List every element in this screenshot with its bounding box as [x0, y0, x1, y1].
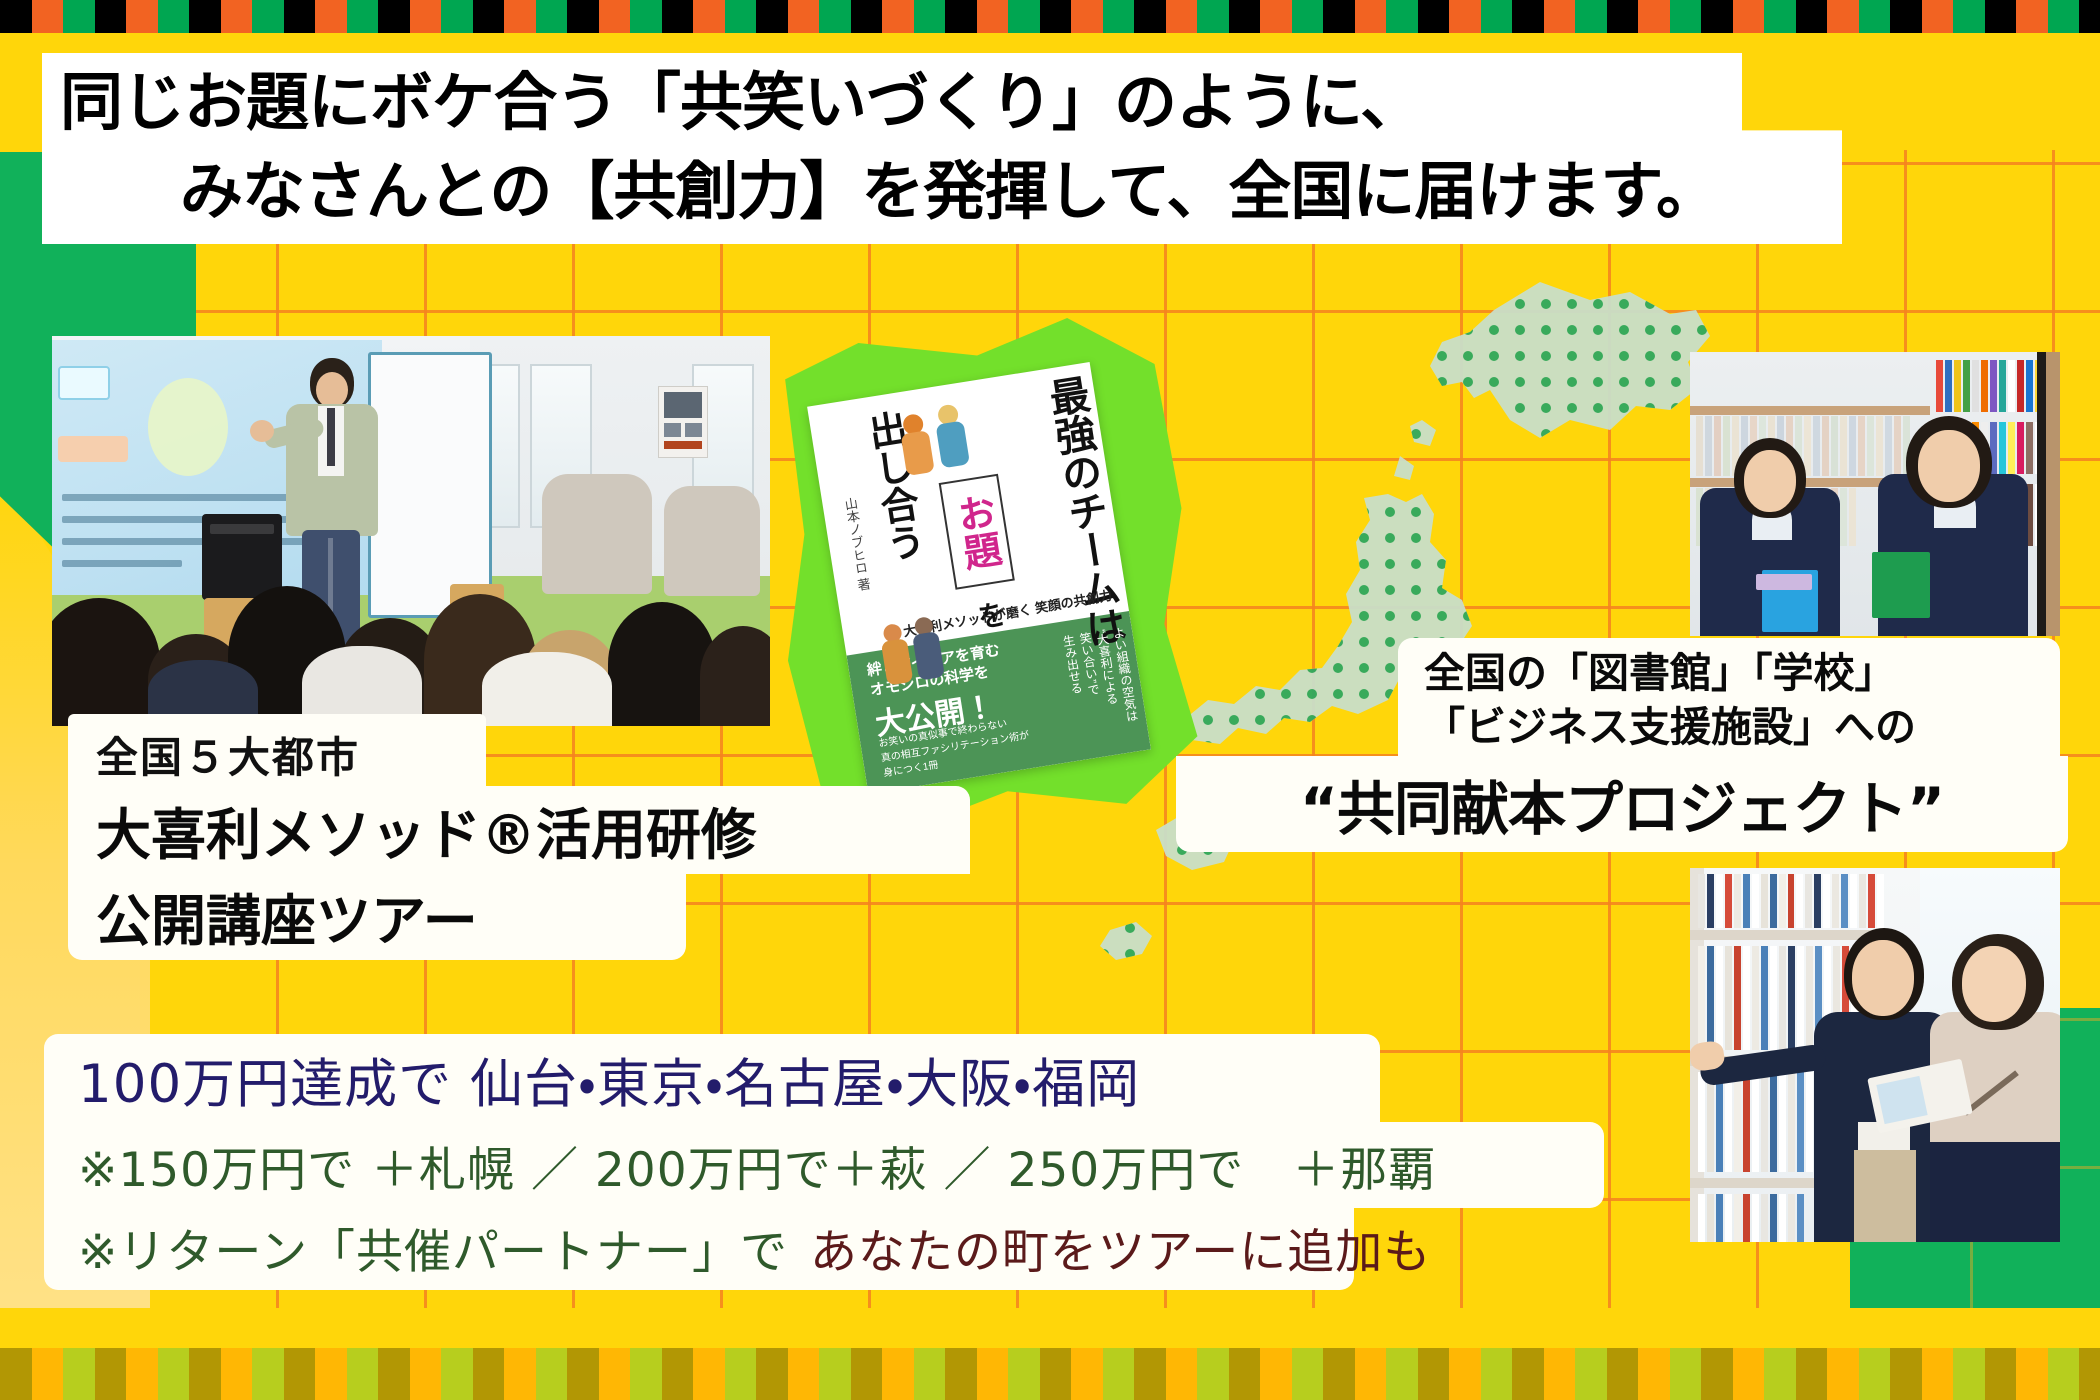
stripe-cell: [1733, 1348, 1765, 1400]
pricing-row-3-green-text: ※リターン「共催パートナー」で: [78, 1213, 788, 1282]
stripe-cell: [1166, 0, 1198, 33]
stripe-cell: [1071, 0, 1103, 33]
stripe-cell: [1764, 1348, 1796, 1400]
stripe-cell: [441, 1348, 473, 1400]
stripe-cell: [284, 1348, 316, 1400]
stripe-cell: [1638, 1348, 1670, 1400]
stripe-cell: [662, 1348, 694, 1400]
stripe-cell: [1040, 0, 1072, 33]
stripe-cell: [1733, 0, 1765, 33]
stripe-cell: [284, 0, 316, 33]
stripe-cell: [1355, 1348, 1387, 1400]
stripe-cell: [1607, 0, 1639, 33]
stripe-cell: [63, 0, 95, 33]
stripe-cell: [1953, 0, 1985, 33]
stripe-cell: [1355, 0, 1387, 33]
pricing-row-2-text: ※150万円で ＋札幌 ／ 200万円で＋萩 ／ 250万円で ＋那覇: [78, 1131, 1436, 1200]
pricing-row-1: 100万円達成で 仙台・東京・名古屋・大阪・福岡: [44, 1034, 1380, 1126]
label-training-title-text: 大喜利メソッド®活用研修: [96, 790, 756, 870]
title-line-1: 同じお題にボケ合う「共笑いづくり」のように、: [60, 58, 1850, 147]
stripe-cell: [1701, 1348, 1733, 1400]
stripe-cell: [1071, 1348, 1103, 1400]
stripe-cell: [1166, 1348, 1198, 1400]
stripe-cell: [1670, 1348, 1702, 1400]
stripe-cell: [1292, 1348, 1324, 1400]
stripe-cell: [1985, 0, 2017, 33]
book-cover: 最強のチームは 出し合う お題 を 山本ノブヒロ 著 大喜利メソッドが磨く 笑顔…: [807, 362, 1151, 794]
stripe-cell: [252, 1348, 284, 1400]
stripe-cell: [1323, 0, 1355, 33]
seminar-audience-photo: [52, 336, 770, 726]
stripe-cell: [1134, 1348, 1166, 1400]
stripe-cell: [2016, 0, 2048, 33]
label-nationwide-facilities: 全国の「図書館」「学校」 「ビジネス支援施設」への: [1398, 638, 2060, 760]
stripe-cell: [851, 0, 883, 33]
stripe-cell: [1512, 0, 1544, 33]
stripe-cell: [1544, 0, 1576, 33]
top-stripe-gap: [0, 33, 2100, 53]
stripe-cell: [221, 1348, 253, 1400]
stripe-cell: [945, 1348, 977, 1400]
label-five-cities: 全国５大都市: [68, 714, 486, 794]
stripe-cell: [1859, 0, 1891, 33]
book-figure-icon: [936, 421, 971, 469]
stripe-cell: [1103, 0, 1135, 33]
stripe-cell: [1040, 1348, 1072, 1400]
stripe-cell: [126, 0, 158, 33]
stripe-cell: [1638, 0, 1670, 33]
stripe-cell: [1953, 1348, 1985, 1400]
stripe-cell: [1386, 0, 1418, 33]
stripe-cell: [1260, 1348, 1292, 1400]
pricing-row-2: ※150万円で ＋札幌 ／ 200万円で＋萩 ／ 250万円で ＋那覇: [44, 1122, 1604, 1208]
stripe-cell: [914, 0, 946, 33]
bottom-stripe-gap: [0, 1308, 2100, 1348]
stripe-cell: [1008, 0, 1040, 33]
stripe-cell: [536, 1348, 568, 1400]
stripe-cell: [914, 1348, 946, 1400]
stripe-cell: [1922, 1348, 1954, 1400]
stripe-cell: [410, 0, 442, 33]
stripe-cell: [1859, 1348, 1891, 1400]
stripe-cell: [599, 1348, 631, 1400]
stripe-cell: [756, 1348, 788, 1400]
couple-browsing-bookshelf-photo: [1690, 868, 2060, 1242]
stripe-cell: [1512, 1348, 1544, 1400]
stripe-cell: [32, 1348, 64, 1400]
stripe-cell: [1134, 0, 1166, 33]
stripe-cell: [977, 1348, 1009, 1400]
stripe-cell: [1449, 0, 1481, 33]
pricing-row-3: ※リターン「共催パートナー」で あなたの町をツアーに追加も: [44, 1204, 1354, 1290]
stripe-cell: [1575, 1348, 1607, 1400]
stripe-cell: [1197, 1348, 1229, 1400]
stripe-cell: [945, 0, 977, 33]
stripe-cell: [1008, 1348, 1040, 1400]
label-tour-title: 公開講座ツアー: [68, 872, 686, 960]
stripe-cell: [536, 0, 568, 33]
label-nationwide-line-1: 全国の「図書館」「学校」: [1424, 646, 2060, 700]
stripe-cell: [126, 1348, 158, 1400]
stripe-cell: [693, 1348, 725, 1400]
stripe-cell: [788, 1348, 820, 1400]
stripe-cell: [1890, 0, 1922, 33]
stripe-cell: [347, 1348, 379, 1400]
stripe-cell: [2016, 1348, 2048, 1400]
stripe-cell: [630, 0, 662, 33]
stripe-cell: [378, 1348, 410, 1400]
stripe-cell: [2048, 0, 2080, 33]
stripe-cell: [2048, 1348, 2080, 1400]
top-stripe-band: [0, 0, 2100, 33]
stripe-cell: [315, 0, 347, 33]
pricing-row-1-text: 100万円達成で 仙台・東京・名古屋・大阪・福岡: [78, 1042, 1140, 1118]
students-in-library-photo: [1690, 352, 2060, 636]
label-training-title: 大喜利メソッド®活用研修: [68, 786, 970, 874]
stripe-cell: [1386, 1348, 1418, 1400]
stripe-cell: [662, 0, 694, 33]
stripe-cell: [473, 1348, 505, 1400]
stripe-cell: [630, 1348, 662, 1400]
stripe-cell: [378, 0, 410, 33]
stripe-cell: [1323, 1348, 1355, 1400]
stripe-cell: [819, 0, 851, 33]
stripe-cell: [63, 1348, 95, 1400]
book-cover-graphic: 最強のチームは 出し合う お題 を 山本ノブヒロ 著 大喜利メソッドが磨く 笑顔…: [818, 360, 1148, 790]
stripe-cell: [1796, 0, 1828, 33]
stripe-cell: [347, 0, 379, 33]
stripe-cell: [1544, 1348, 1576, 1400]
stripe-cell: [567, 0, 599, 33]
bottom-stripe-band: [0, 1348, 2100, 1400]
stripe-cell: [567, 1348, 599, 1400]
label-nationwide-line-2: 「ビジネス支援施設」への: [1424, 700, 2060, 754]
stripe-cell: [882, 0, 914, 33]
stripe-cell: [1103, 1348, 1135, 1400]
stripe-cell: [1796, 1348, 1828, 1400]
stripe-cell: [1985, 1348, 2017, 1400]
stripe-cell: [441, 0, 473, 33]
stripe-cell: [819, 1348, 851, 1400]
stripe-cell: [1827, 0, 1859, 33]
stripe-cell: [882, 1348, 914, 1400]
stripe-cell: [95, 0, 127, 33]
stripe-cell: [158, 1348, 190, 1400]
stripe-cell: [315, 1348, 347, 1400]
title-line-2: みなさんとの【共創力】を発揮して、全国に届けます。: [60, 147, 1850, 236]
stripe-cell: [1260, 0, 1292, 33]
stripe-cell: [977, 0, 1009, 33]
stripe-cell: [756, 0, 788, 33]
stripe-cell: [1418, 1348, 1450, 1400]
stripe-cell: [1229, 1348, 1261, 1400]
label-tour-title-text: 公開講座ツアー: [96, 876, 478, 956]
page-title: 同じお題にボケ合う「共笑いづくり」のように、 みなさんとの【共創力】を発揮して、…: [60, 52, 1850, 242]
stripe-cell: [725, 1348, 757, 1400]
stripe-cell: [1764, 0, 1796, 33]
book-author: 山本ノブヒロ 著: [840, 496, 874, 592]
stripe-cell: [0, 0, 32, 33]
stripe-cell: [1670, 0, 1702, 33]
stripe-cell: [2079, 0, 2100, 33]
stripe-cell: [1418, 0, 1450, 33]
stripe-cell: [504, 1348, 536, 1400]
stripe-cell: [1197, 0, 1229, 33]
stripe-cell: [95, 1348, 127, 1400]
stripe-cell: [693, 0, 725, 33]
poster-canvas: 最強のチームは 出し合う お題 を 山本ノブヒロ 著 大喜利メソッドが磨く 笑顔…: [0, 0, 2100, 1400]
stripe-cell: [1292, 0, 1324, 33]
stripe-cell: [851, 1348, 883, 1400]
stripe-cell: [158, 0, 190, 33]
pricing-row-3-maroon-text: あなたの町をツアーに追加も: [810, 1213, 1431, 1282]
stripe-cell: [221, 0, 253, 33]
stripe-cell: [189, 0, 221, 33]
stripe-cell: [0, 1348, 32, 1400]
stripe-cell: [599, 0, 631, 33]
stripe-cell: [1229, 0, 1261, 33]
pricing-card: ※150万円で ＋札幌 ／ 200万円で＋萩 ／ 250万円で ＋那覇 ※リター…: [44, 1034, 1444, 1290]
stripe-cell: [32, 0, 64, 33]
book-odai-badge: お題: [939, 474, 1015, 590]
stripe-cell: [1449, 1348, 1481, 1400]
stripe-cell: [1481, 0, 1513, 33]
book-figure-icon: [901, 430, 935, 476]
stripe-cell: [2079, 1348, 2100, 1400]
stripe-cell: [1701, 0, 1733, 33]
stripe-cell: [252, 0, 284, 33]
label-donation-project-text: “共同献本プロジェクト”: [1300, 762, 1944, 846]
stripe-cell: [1922, 0, 1954, 33]
stripe-cell: [410, 1348, 442, 1400]
stripe-cell: [1481, 1348, 1513, 1400]
stripe-cell: [189, 1348, 221, 1400]
stripe-cell: [1827, 1348, 1859, 1400]
stripe-cell: [1890, 1348, 1922, 1400]
stripe-cell: [504, 0, 536, 33]
stripe-cell: [725, 0, 757, 33]
stripe-cell: [473, 0, 505, 33]
label-donation-project: “共同献本プロジェクト”: [1176, 756, 2068, 852]
stripe-cell: [788, 0, 820, 33]
stripe-cell: [1607, 1348, 1639, 1400]
stripe-cell: [1575, 0, 1607, 33]
label-five-cities-text: 全国５大都市: [96, 724, 360, 785]
